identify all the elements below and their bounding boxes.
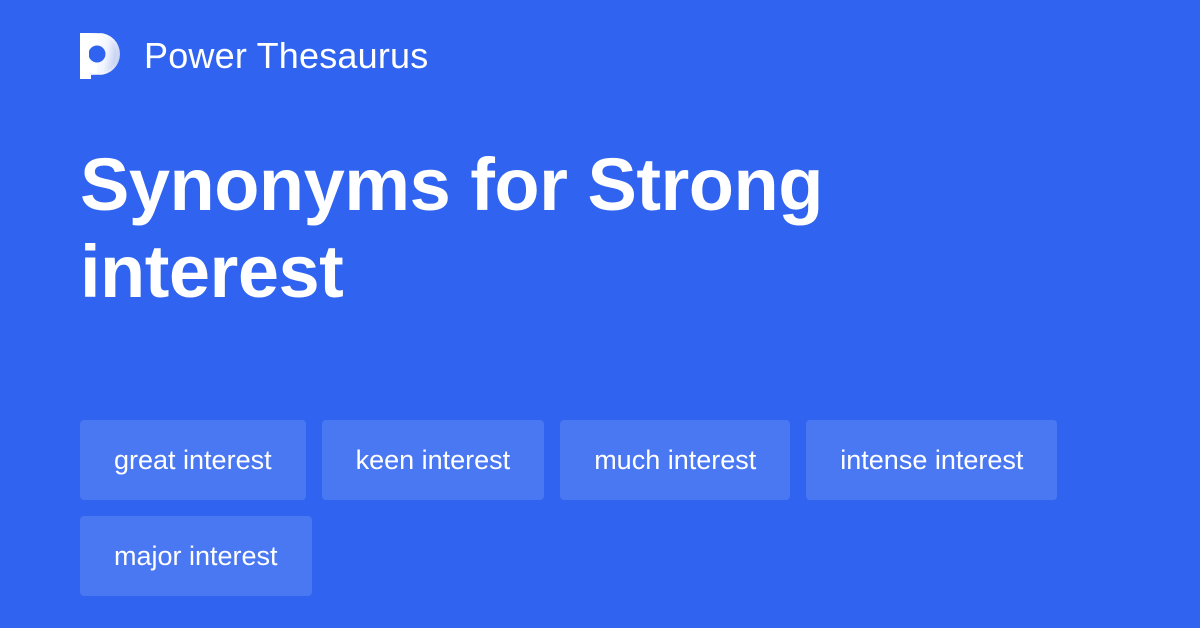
- synonym-chip[interactable]: intense interest: [806, 420, 1057, 500]
- page-title-line-1: Synonyms for Strong: [80, 142, 980, 229]
- share-card: Power Thesaurus Synonyms for Strong inte…: [0, 0, 1200, 628]
- synonym-chip[interactable]: great interest: [80, 420, 306, 500]
- synonym-chip[interactable]: major interest: [80, 516, 312, 596]
- synonym-chip[interactable]: keen interest: [322, 420, 545, 500]
- power-thesaurus-logo-icon: [80, 31, 126, 81]
- synonym-chip[interactable]: much interest: [560, 420, 790, 500]
- page-title: Synonyms for Strong interest: [80, 142, 980, 315]
- brand-logo[interactable]: Power Thesaurus: [80, 28, 428, 84]
- page-title-line-2: interest: [80, 229, 980, 316]
- synonym-chip-list: great interest keen interest much intere…: [80, 420, 1120, 596]
- brand-name: Power Thesaurus: [144, 38, 428, 74]
